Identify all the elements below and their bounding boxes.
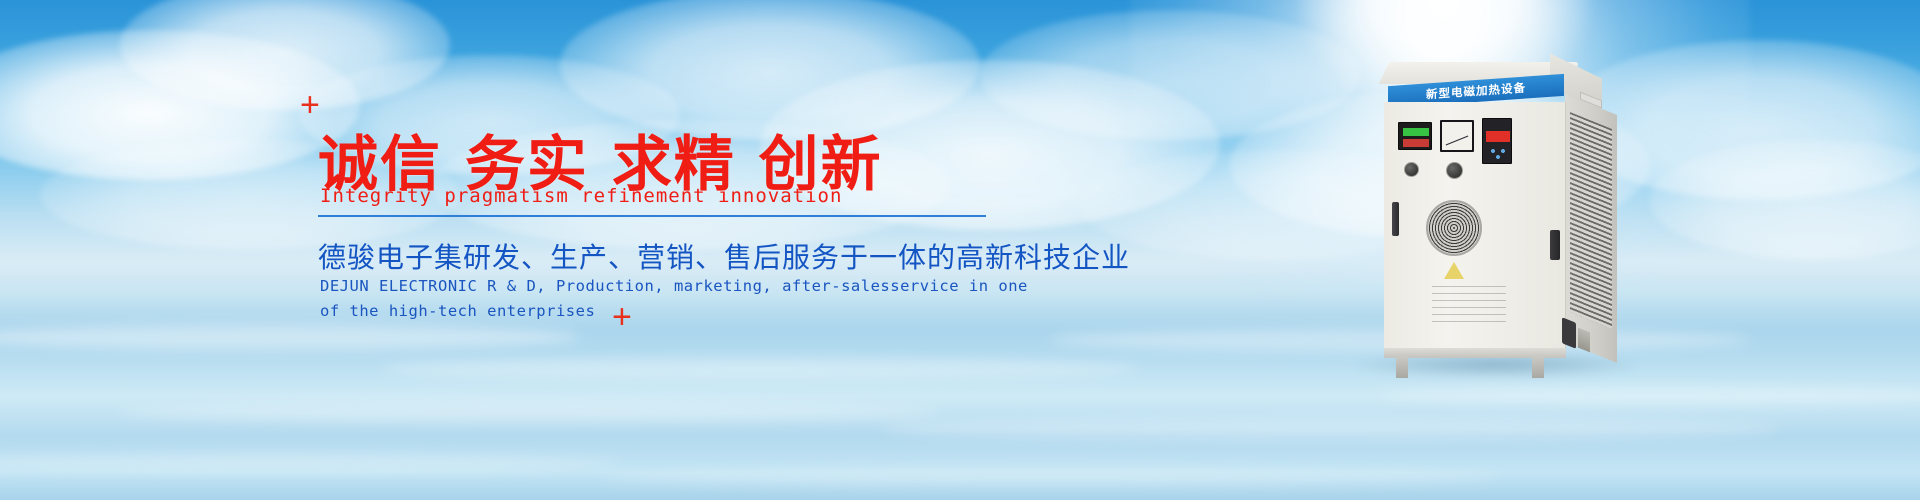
product-image-heating-machine: 新型电磁加热设备 (1374, 62, 1624, 362)
subtitle-english: DEJUN ELECTRONIC R & D, Production, mark… (320, 274, 1028, 324)
machine-knob (1446, 162, 1463, 179)
machine-analog-gauge (1440, 120, 1474, 152)
warning-triangle-icon (1444, 262, 1464, 279)
machine-door-handle (1392, 202, 1399, 236)
machine-side-handle (1550, 230, 1560, 260)
hero-banner: + + 诚信 务实 求精 创新 Integrity pragmatism ref… (0, 0, 1920, 500)
machine-spec-label (1432, 286, 1506, 326)
machine-rear-bar (1562, 317, 1576, 349)
machine-foot (1578, 328, 1590, 353)
decor-plus-icon: + (300, 88, 320, 122)
subtitle-chinese: 德骏电子集研发、生产、营销、售后服务于一体的高新科技企业 (318, 236, 1130, 276)
machine-foot (1396, 356, 1408, 378)
machine-vent-grille (1570, 112, 1612, 329)
machine-knob (1404, 162, 1419, 177)
machine-fan-grille (1426, 200, 1482, 256)
divider-rule (318, 215, 986, 217)
wave-highlight (1380, 386, 1920, 404)
machine-controller-keypad (1482, 118, 1512, 164)
headline-english: Integrity pragmatism refinement innovati… (320, 185, 842, 207)
banner-text-block: + + 诚信 务实 求精 创新 Integrity pragmatism ref… (0, 0, 1100, 500)
machine-digital-display (1398, 122, 1432, 150)
machine-foot (1532, 356, 1544, 378)
